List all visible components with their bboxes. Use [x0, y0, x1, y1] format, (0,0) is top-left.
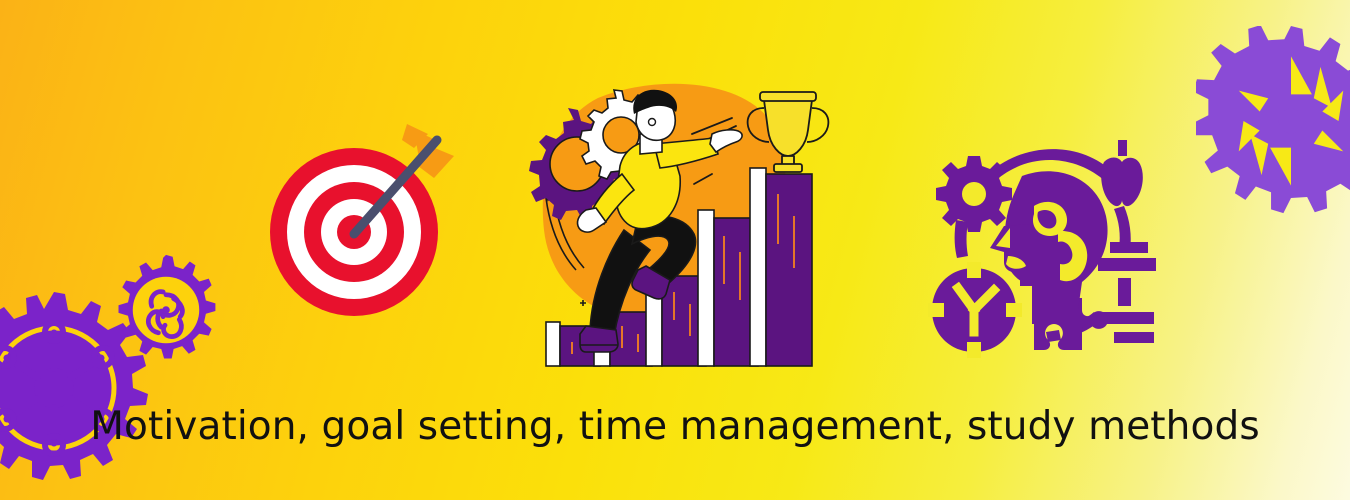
banner-caption: Motivation, goal setting, time managemen… [0, 404, 1350, 449]
learning-mind-icon [928, 128, 1158, 363]
decorative-gear-small [109, 253, 223, 367]
target-with-arrow [262, 120, 462, 335]
banner-root: Motivation, goal setting, time managemen… [0, 0, 1350, 500]
person-climbing-bars-to-trophy [528, 68, 848, 368]
decorative-gear-spoked [1196, 26, 1350, 216]
